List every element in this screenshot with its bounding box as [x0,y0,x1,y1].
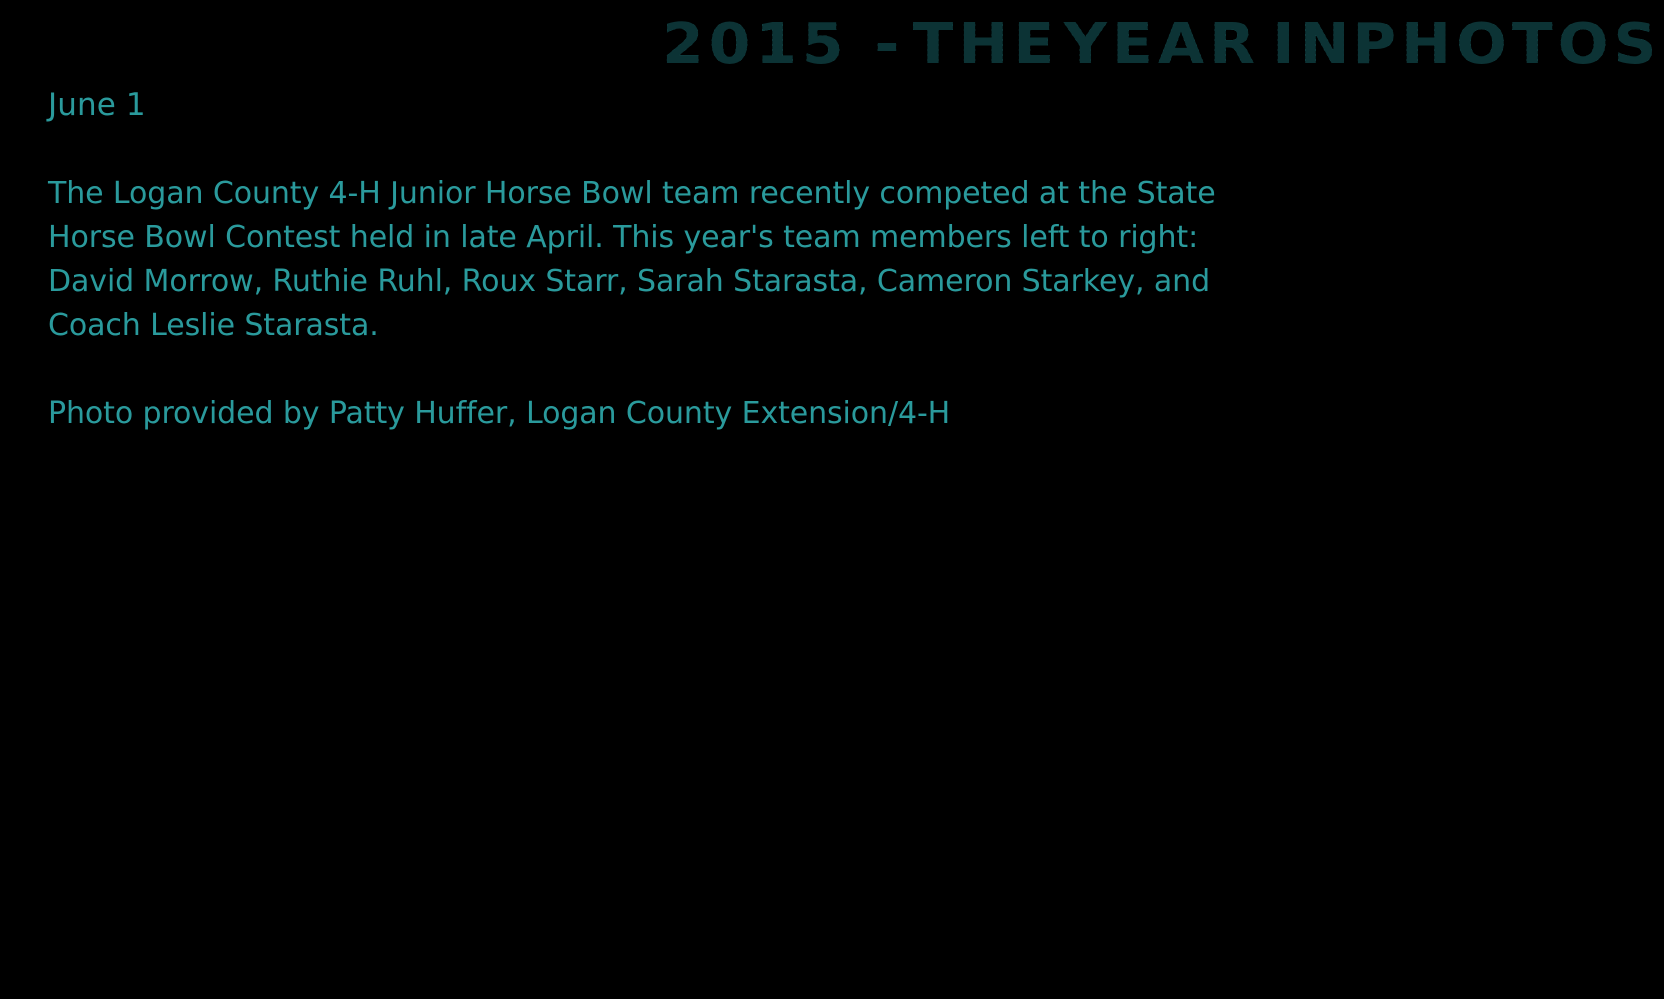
body-line: David Morrow, Ruthie Ruhl, Roux Starr, S… [48,260,1398,304]
banner-word-photos: PHOTOS [1353,14,1662,76]
slide-canvas: 2015 - THE YEAR IN PHOTOS June 1 The Log… [0,0,1664,999]
body-line: Horse Bowl Contest held in late April. T… [48,216,1398,260]
date-heading: June 1 [48,84,1448,126]
caption-text-block: June 1 The Logan County 4-H Junior Horse… [48,84,1448,436]
banner-word-year: 2015 - [663,14,905,76]
body-line: The Logan County 4-H Junior Horse Bowl t… [48,172,1398,216]
body-paragraph: The Logan County 4-H Junior Horse Bowl t… [48,172,1398,348]
banner-word-in: IN [1272,14,1354,76]
photo-credit: Photo provided by Patty Huffer, Logan Co… [48,392,1448,436]
banner-word-the: THE [913,14,1060,76]
body-line: Coach Leslie Starasta. [48,304,1398,348]
banner-word-year-noun: YEAR [1064,14,1260,76]
banner-title: 2015 - THE YEAR IN PHOTOS [676,14,1662,76]
